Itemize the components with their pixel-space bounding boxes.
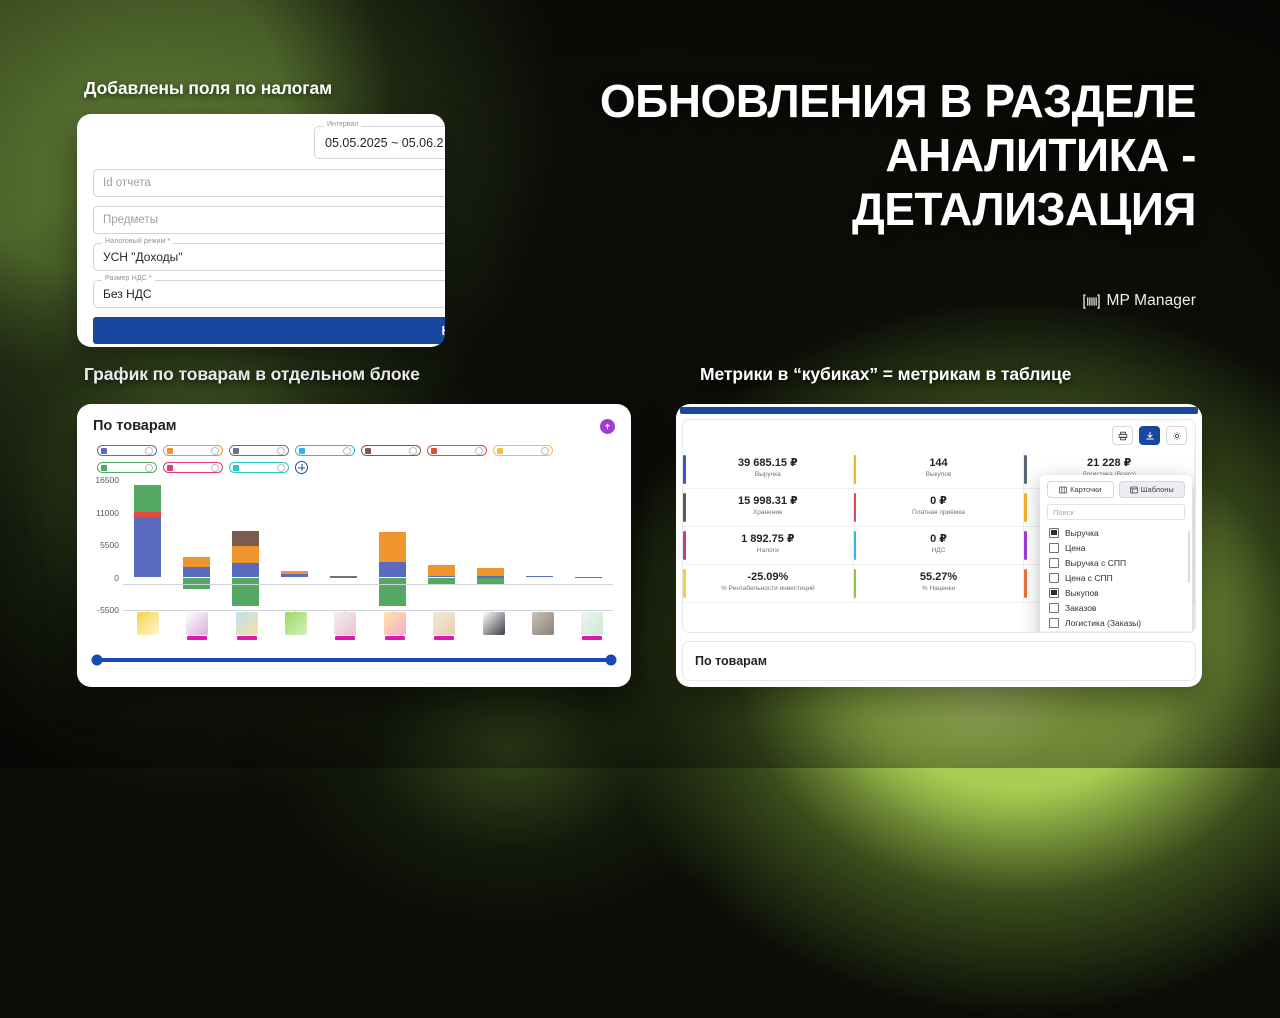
legend-chip[interactable] xyxy=(229,445,289,456)
slider-track[interactable] xyxy=(97,658,611,662)
caption-taxes: Добавлены поля по налогам xyxy=(84,78,332,99)
product-thumbnail[interactable] xyxy=(532,612,554,642)
bar-column[interactable] xyxy=(526,480,553,610)
legend-swatch xyxy=(167,448,173,454)
metric-accent-stripe xyxy=(683,493,686,522)
bar-column[interactable] xyxy=(575,480,602,610)
tax-regime-value: УСН "Доходы" xyxy=(103,250,183,264)
metric-card[interactable]: 0 ₽Платная приёмка xyxy=(854,489,1025,527)
printer-icon xyxy=(1118,431,1128,441)
metric-accent-stripe xyxy=(1024,531,1027,560)
table-title-row: По товарам xyxy=(682,641,1196,681)
metric-accent-stripe xyxy=(1024,569,1027,598)
dropdown-list-item[interactable]: Цена с СПП xyxy=(1040,570,1192,585)
dropdown-list-item[interactable]: Логистика (Заказы) xyxy=(1040,615,1192,630)
metric-accent-stripe xyxy=(1024,455,1027,484)
vat-rate-label: Размер НДС * xyxy=(102,275,155,282)
date-range-row: Интервал 05.05.2025 ~ 05.06.2 xyxy=(93,126,445,159)
chart-bars xyxy=(123,480,613,610)
product-image xyxy=(483,612,505,635)
x-axis-baseline xyxy=(123,610,613,611)
metrics-toolbar xyxy=(683,420,1195,445)
bar-segment xyxy=(575,577,602,579)
x-axis-line xyxy=(123,584,613,585)
metric-accent-stripe xyxy=(854,493,857,522)
dropdown-item-label: Выкупов xyxy=(1065,588,1099,598)
bar-segment xyxy=(379,578,406,607)
product-image xyxy=(236,612,258,635)
slider-knob-right[interactable] xyxy=(606,655,617,666)
y-axis-tick-label: -5500 xyxy=(87,605,119,615)
legend-swatch xyxy=(365,448,371,454)
metric-accent-stripe xyxy=(854,455,857,484)
chart-x-thumbnails xyxy=(123,612,617,650)
metric-card[interactable]: 15 998.31 ₽Хранение xyxy=(683,489,854,527)
product-label-bar xyxy=(582,636,602,640)
legend-swatch xyxy=(167,465,173,471)
bar-column[interactable] xyxy=(477,480,504,610)
legend-remove-icon[interactable] xyxy=(145,447,153,455)
legend-chip[interactable] xyxy=(229,462,289,473)
tab-templates[interactable]: Шаблоны xyxy=(1119,481,1186,498)
legend-swatch xyxy=(431,448,437,454)
bar-segment xyxy=(379,532,406,562)
product-thumbnail[interactable] xyxy=(384,612,406,642)
date-range-field[interactable]: Интервал 05.05.2025 ~ 05.06.2 xyxy=(314,126,445,159)
arrow-up-circle-icon[interactable] xyxy=(600,419,615,434)
product-label-bar xyxy=(187,636,207,640)
bar-segment xyxy=(134,485,161,512)
dropdown-list-item[interactable]: Выручка с СПП xyxy=(1040,555,1192,570)
dropdown-item-label: Цена с СПП xyxy=(1065,573,1113,583)
dropdown-search-input[interactable]: Поиск xyxy=(1047,504,1185,520)
dropdown-item-label: Выручка xyxy=(1065,528,1099,538)
dropdown-list-item[interactable]: Заказов xyxy=(1040,600,1192,615)
download-icon xyxy=(1145,431,1155,441)
legend-swatch xyxy=(233,448,239,454)
y-axis-tick-label: 0 xyxy=(87,573,119,583)
bar-segment xyxy=(330,576,357,578)
bar-segment xyxy=(281,574,308,578)
dropdown-list: ВыручкаЦенаВыручка с СППЦена с СППВыкупо… xyxy=(1040,525,1192,631)
report-id-field[interactable]: Id отчета xyxy=(93,169,445,197)
product-image xyxy=(186,612,208,635)
chart-plot-area: 165001100055000-5500 xyxy=(87,480,617,610)
chart-legend xyxy=(77,434,631,474)
legend-swatch xyxy=(101,465,107,471)
y-axis-tick-label: 11000 xyxy=(87,508,119,518)
product-thumbnail[interactable] xyxy=(433,612,455,642)
metric-label: % Рентабельности инвестиций xyxy=(687,585,849,592)
chart-title: По товарам xyxy=(93,418,177,434)
legend-chip[interactable] xyxy=(163,445,223,456)
dropdown-list-item[interactable]: Выкупов xyxy=(1040,585,1192,600)
legend-remove-icon[interactable] xyxy=(409,447,417,455)
product-label-bar xyxy=(237,636,257,640)
legend-swatch xyxy=(233,465,239,471)
bar-column[interactable] xyxy=(183,480,210,610)
metric-value: 0 ₽ xyxy=(858,495,1020,508)
subjects-placeholder: Предметы xyxy=(103,214,158,226)
brand-logo: MP Manager xyxy=(1083,292,1196,310)
tab-cards[interactable]: Карточки xyxy=(1047,481,1114,498)
metrics-panel: Настройки 3 xyxy=(676,404,1202,687)
bar-segment xyxy=(281,571,308,574)
legend-chip[interactable] xyxy=(97,462,157,473)
hero-line-2: АНАЛИТИКА - xyxy=(506,128,1196,182)
product-thumbnail[interactable] xyxy=(137,612,159,642)
dropdown-item-label: Логистика (Заказы) xyxy=(1065,618,1141,628)
metric-label: Платная приёмка xyxy=(858,509,1020,516)
dropdown-item-label: Заказов xyxy=(1065,603,1096,613)
metric-value: -25.09% xyxy=(687,571,849,584)
checkbox[interactable] xyxy=(1049,543,1059,553)
metric-label: Хранение xyxy=(687,509,849,516)
legend-chip[interactable] xyxy=(97,445,157,456)
bar-segment xyxy=(232,563,259,577)
bar-column[interactable] xyxy=(232,480,259,610)
metric-value: 39 685.15 ₽ xyxy=(687,457,849,470)
legend-swatch xyxy=(497,448,503,454)
tab-templates-label: Шаблоны xyxy=(1141,485,1174,494)
bar-segment xyxy=(379,562,406,578)
checkbox[interactable] xyxy=(1049,603,1059,613)
columns-icon xyxy=(1059,486,1067,494)
chart-range-slider[interactable] xyxy=(97,654,611,666)
product-image xyxy=(384,612,406,635)
metric-value: 144 xyxy=(858,457,1020,470)
y-axis-tick-label: 5500 xyxy=(87,540,119,550)
caption-metrics: Метрики в “кубиках” = метрикам в таблице xyxy=(700,364,1071,385)
tab-cards-label: Карточки xyxy=(1070,485,1101,494)
columns-dropdown: Карточки Шаблоны Поиск ВыручкаЦенаВыручк… xyxy=(1040,475,1192,633)
legend-remove-icon[interactable] xyxy=(475,447,483,455)
product-image xyxy=(285,612,307,635)
checkbox[interactable] xyxy=(1049,588,1059,598)
legend-chip[interactable] xyxy=(295,445,355,456)
metric-label: Выкупов xyxy=(858,471,1020,478)
metrics-panel-topbar xyxy=(680,407,1198,414)
dropdown-scrollbar[interactable] xyxy=(1188,531,1190,583)
metric-value: 15 998.31 ₽ xyxy=(687,495,849,508)
dropdown-item-label: Цена xyxy=(1065,543,1085,553)
legend-chip[interactable] xyxy=(427,445,487,456)
download-button[interactable] xyxy=(1139,426,1160,445)
metric-value: 21 228 ₽ xyxy=(1028,457,1190,470)
chart-header: По товарам xyxy=(77,404,631,434)
checkbox[interactable] xyxy=(1049,618,1059,628)
metric-value: 1 892.75 ₽ xyxy=(687,533,849,546)
find-button[interactable]: Найти xyxy=(93,317,445,344)
product-label-bar xyxy=(335,636,355,640)
restore-defaults-link[interactable]: Восстановить по умолчанию xyxy=(1040,631,1192,633)
product-image xyxy=(433,612,455,635)
metric-label: Выручка xyxy=(687,471,849,478)
subjects-field[interactable]: Предметы xyxy=(93,206,445,234)
legend-remove-icon[interactable] xyxy=(211,447,219,455)
bar-segment xyxy=(232,578,259,606)
settings-button[interactable] xyxy=(1166,426,1187,445)
dropdown-list-item[interactable]: Цена xyxy=(1040,540,1192,555)
metric-accent-stripe xyxy=(1024,493,1027,522)
tax-regime-label: Налоговый режим * xyxy=(102,238,173,245)
legend-remove-icon[interactable] xyxy=(145,464,153,472)
find-button-label: Найти xyxy=(442,324,445,338)
bar-segment xyxy=(134,517,161,577)
metric-accent-stripe xyxy=(854,531,857,560)
bar-segment xyxy=(232,531,259,546)
checkbox[interactable] xyxy=(1049,558,1059,568)
metric-accent-stripe xyxy=(854,569,857,598)
bar-segment xyxy=(428,565,455,576)
checkbox[interactable] xyxy=(1049,528,1059,538)
product-thumbnail[interactable] xyxy=(483,612,505,642)
legend-remove-icon[interactable] xyxy=(277,464,285,472)
barcode-icon xyxy=(1083,294,1100,309)
product-thumbnail[interactable] xyxy=(285,612,307,642)
hero-title: ОБНОВЛЕНИЯ В РАЗДЕЛЕ АНАЛИТИКА - ДЕТАЛИЗ… xyxy=(506,74,1196,236)
metric-accent-stripe xyxy=(683,569,686,598)
metric-accent-stripe xyxy=(683,455,686,484)
legend-swatch xyxy=(299,448,305,454)
metric-card[interactable]: 55.27%% Наценки xyxy=(854,565,1025,603)
product-thumbnail[interactable] xyxy=(186,612,208,642)
dropdown-tabs: Карточки Шаблоны xyxy=(1040,481,1192,498)
metric-card[interactable]: 1 892.75 ₽Налоги xyxy=(683,527,854,565)
legend-chip[interactable] xyxy=(493,445,553,456)
print-button[interactable] xyxy=(1112,426,1133,445)
product-image xyxy=(137,612,159,635)
product-image xyxy=(532,612,554,635)
metric-label: % Наценки xyxy=(858,585,1020,592)
bar-column[interactable] xyxy=(330,480,357,610)
metric-card[interactable]: 144Выкупов xyxy=(854,451,1025,489)
metric-value: 55.27% xyxy=(858,571,1020,584)
report-id-placeholder: Id отчета xyxy=(103,177,151,189)
metric-accent-stripe xyxy=(683,531,686,560)
tax-form-panel: Интервал 05.05.2025 ~ 05.06.2 Id отчета … xyxy=(77,114,445,347)
product-thumbnail[interactable] xyxy=(334,612,356,642)
slider-knob-left[interactable] xyxy=(92,655,103,666)
dropdown-item-label: Выручка с СПП xyxy=(1065,558,1126,568)
legend-chip[interactable] xyxy=(361,445,421,456)
legend-remove-icon[interactable] xyxy=(211,464,219,472)
caption-chart: График по товарам в отдельном блоке xyxy=(84,364,420,385)
product-label-bar xyxy=(434,636,454,640)
plus-circle-icon[interactable] xyxy=(295,461,308,474)
legend-remove-icon[interactable] xyxy=(541,447,549,455)
hero-line-3: ДЕТАЛИЗАЦИЯ xyxy=(506,182,1196,236)
metric-label: Налоги xyxy=(687,547,849,554)
metric-label: НДС xyxy=(858,547,1020,554)
bar-column[interactable] xyxy=(134,480,161,610)
date-range-value: 05.05.2025 ~ 05.06.2 xyxy=(325,136,444,150)
legend-remove-icon[interactable] xyxy=(277,447,285,455)
product-image xyxy=(581,612,603,635)
vat-rate-select[interactable]: Размер НДС * Без НДС xyxy=(93,280,445,308)
table-title: По товарам xyxy=(695,654,767,668)
product-image xyxy=(334,612,356,635)
bar-segment xyxy=(183,557,210,567)
template-icon xyxy=(1130,486,1138,494)
metric-value: 0 ₽ xyxy=(858,533,1020,546)
checkbox[interactable] xyxy=(1049,573,1059,583)
bar-segment xyxy=(477,568,504,576)
metrics-panel-body: Настройки 3 xyxy=(682,419,1196,633)
tax-regime-select[interactable]: Налоговый режим * УСН "Доходы" xyxy=(93,243,445,271)
bar-segment xyxy=(526,576,553,578)
metric-card[interactable]: -25.09%% Рентабельности инвестиций xyxy=(683,565,854,603)
bar-column[interactable] xyxy=(428,480,455,610)
product-label-bar xyxy=(385,636,405,640)
chart-panel: По товарам 165001100055000-5500 xyxy=(77,404,631,687)
metric-card[interactable]: 0 ₽НДС xyxy=(854,527,1025,565)
dropdown-list-item[interactable]: Выручка xyxy=(1040,525,1192,540)
chart-y-axis: 165001100055000-5500 xyxy=(87,480,119,610)
brand-name: MP Manager xyxy=(1107,292,1196,310)
gear-icon xyxy=(1172,431,1182,441)
bar-column[interactable] xyxy=(379,480,406,610)
vat-rate-value: Без НДС xyxy=(103,287,152,301)
bar-column[interactable] xyxy=(281,480,308,610)
hero-line-1: ОБНОВЛЕНИЯ В РАЗДЕЛЕ xyxy=(506,74,1196,128)
product-thumbnail[interactable] xyxy=(581,612,603,642)
legend-remove-icon[interactable] xyxy=(343,447,351,455)
bar-segment xyxy=(232,546,259,564)
bar-segment xyxy=(134,512,161,517)
legend-swatch xyxy=(101,448,107,454)
legend-chip[interactable] xyxy=(163,462,223,473)
dropdown-search-placeholder: Поиск xyxy=(1053,508,1074,517)
bar-segment xyxy=(183,567,210,578)
product-thumbnail[interactable] xyxy=(236,612,258,642)
y-axis-tick-label: 16500 xyxy=(87,475,119,485)
metric-card[interactable]: 39 685.15 ₽Выручка xyxy=(683,451,854,489)
date-range-label: Интервал xyxy=(324,121,361,128)
